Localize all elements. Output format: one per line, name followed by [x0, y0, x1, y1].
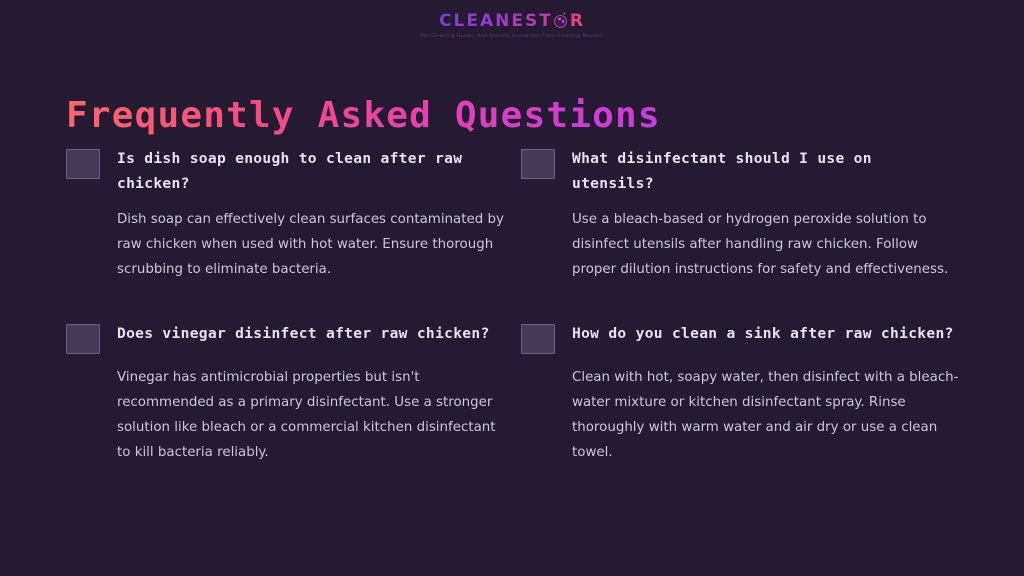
faq-placeholder-icon	[521, 324, 555, 354]
faq-item[interactable]: Does vinegar disinfect after raw chicken…	[66, 321, 506, 465]
faq-question-row[interactable]: How do you clean a sink after raw chicke…	[521, 321, 961, 354]
faq-item[interactable]: How do you clean a sink after raw chicke…	[521, 321, 961, 465]
faq-question-text: How do you clean a sink after raw chicke…	[572, 321, 954, 346]
page-title: Frequently Asked Questions	[66, 92, 661, 140]
faq-question-text: Is dish soap enough to clean after raw c…	[117, 146, 506, 196]
faq-question-text: Does vinegar disinfect after raw chicken…	[117, 321, 490, 346]
faq-placeholder-icon	[521, 149, 555, 179]
sparkle-icon	[563, 12, 566, 15]
faq-item[interactable]: Is dish soap enough to clean after raw c…	[66, 146, 506, 282]
faq-item[interactable]: What disinfectant should I use on utensi…	[521, 146, 961, 282]
brand-tagline: Pro Cleaning Guides And Service Journali…	[421, 33, 604, 40]
faq-question-row[interactable]: Does vinegar disinfect after raw chicken…	[66, 321, 506, 354]
faq-answer-text: Vinegar has antimicrobial properties but…	[117, 365, 506, 465]
brand-header: CLEANEST R Pro Cleaning Guides And Servi…	[0, 12, 1024, 40]
brand-globe-icon	[554, 14, 569, 29]
faq-answer-text: Clean with hot, soapy water, then disinf…	[572, 365, 961, 465]
faq-question-row[interactable]: What disinfectant should I use on utensi…	[521, 146, 961, 196]
brand-logo-text-primary: CLEANEST	[439, 12, 553, 31]
faq-placeholder-icon	[66, 149, 100, 179]
faq-list: Is dish soap enough to clean after raw c…	[66, 146, 976, 465]
faq-answer-text: Use a bleach-based or hydrogen peroxide …	[572, 207, 961, 282]
brand-logo[interactable]: CLEANEST R	[439, 12, 585, 31]
faq-question-row[interactable]: Is dish soap enough to clean after raw c…	[66, 146, 506, 196]
faq-question-text: What disinfectant should I use on utensi…	[572, 146, 961, 196]
faq-placeholder-icon	[66, 324, 100, 354]
brand-logo-text-secondary: R	[570, 12, 585, 31]
faq-answer-text: Dish soap can effectively clean surfaces…	[117, 207, 506, 282]
